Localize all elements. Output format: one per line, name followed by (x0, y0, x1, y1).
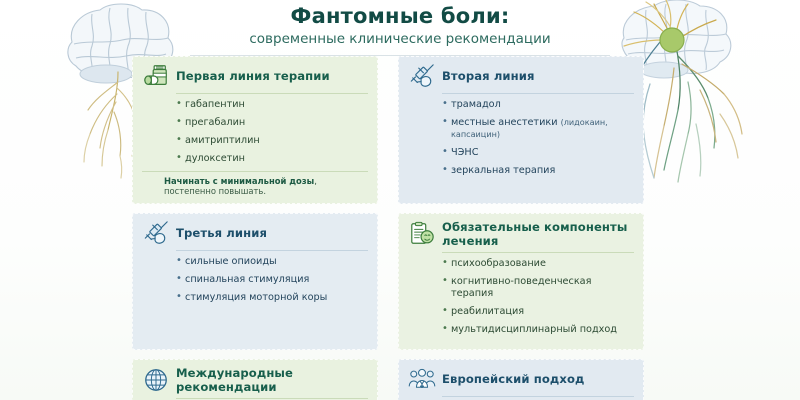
card-international-recommendations: Международные рекомендации раннее начало… (132, 359, 378, 400)
card-header: Международные рекомендации (142, 366, 368, 397)
medical-team-icon (408, 366, 436, 392)
card-items: трамадол местные анестетики (лидокаин, к… (408, 99, 634, 178)
card-header: Обязательные компоненты лечения (408, 220, 634, 251)
card-title: Европейский подход (442, 372, 585, 386)
card-title-divider (442, 396, 634, 397)
footnote-emphasis: Начинать с минимальной дозы (164, 176, 314, 186)
syringe-icon (408, 63, 436, 89)
card-third-line: Третья линия сильные опиоиды спинальная … (132, 213, 378, 350)
card-title: Первая линия терапии (176, 69, 330, 83)
card-header: Первая линия терапии (142, 63, 368, 92)
card-title-divider (442, 93, 634, 94)
page-title: Фантомные боли: (0, 5, 800, 28)
card-title-divider (442, 252, 634, 253)
syringe-icon (142, 220, 170, 246)
list-item: ЧЭНС (442, 147, 634, 159)
card-items: психообразование когнитивно-поведенческа… (408, 258, 634, 337)
list-item: спинальная стимуляция (176, 274, 368, 286)
card-footnote: Начинать с минимальной дозы, постепенно … (142, 176, 368, 196)
list-item: трамадол (442, 99, 634, 111)
page-subtitle: современные клинические рекомендации (0, 32, 800, 48)
clipboard-head-icon (408, 221, 436, 247)
card-mandatory-components: Обязательные компоненты лечения психообр… (398, 213, 644, 350)
list-item: психообразование (442, 258, 634, 270)
card-second-line: Вторая линия трамадол местные анестетики… (398, 56, 644, 204)
list-item: прегабалин (176, 117, 368, 129)
cards-grid: Первая линия терапии габапентин прегабал… (132, 56, 644, 400)
infographic-canvas: Фантомные боли: современные клинические … (0, 0, 800, 400)
card-title-divider (176, 250, 368, 251)
header: Фантомные боли: современные клинические … (0, 0, 800, 56)
list-item: когнитивно-поведенческая терапия (442, 276, 634, 301)
card-header: Европейский подход (408, 366, 634, 395)
globe-icon (142, 367, 170, 393)
card-title: Международные рекомендации (176, 366, 368, 394)
card-items: сильные опиоиды спинальная стимуляция ст… (142, 256, 368, 304)
card-footnote-divider (142, 171, 368, 172)
list-item: мультидисциплинарный подход (442, 324, 634, 336)
list-item: дулоксетин (176, 153, 368, 165)
list-item: стимуляция моторной коры (176, 292, 368, 304)
list-item: сильные опиоиды (176, 256, 368, 268)
card-header: Третья линия (142, 220, 368, 249)
pill-bottle-icon (142, 63, 170, 89)
card-title-divider (176, 398, 368, 399)
list-item: зеркальная терапия (442, 165, 634, 177)
card-header: Вторая линия (408, 63, 634, 92)
card-title: Обязательные компоненты лечения (442, 220, 634, 248)
card-title: Третья линия (176, 226, 267, 240)
list-item: местные анестетики (лидокаин, капсаицин) (442, 117, 634, 142)
list-item: реабилитация (442, 306, 634, 318)
card-title: Вторая линия (442, 69, 535, 83)
card-items: габапентин прегабалин амитриптилин дулок… (142, 99, 368, 165)
header-divider (190, 55, 610, 56)
list-item: габапентин (176, 99, 368, 111)
card-first-line: Первая линия терапии габапентин прегабал… (132, 56, 378, 204)
card-european-approach: Европейский подход команда специалистов … (398, 359, 644, 400)
card-title-divider (176, 93, 368, 94)
list-item: амитриптилин (176, 135, 368, 147)
